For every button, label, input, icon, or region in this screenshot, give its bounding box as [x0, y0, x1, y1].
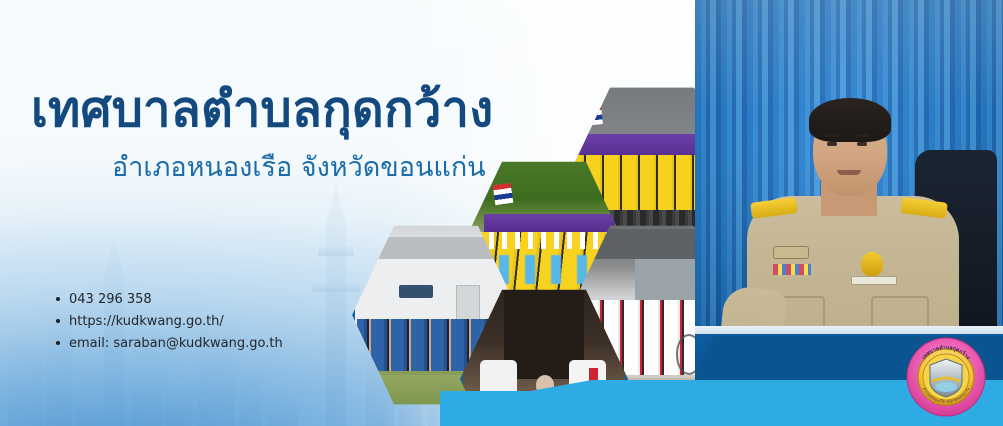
contact-item-email[interactable]: email: saraban@kudkwang.go.th	[56, 332, 283, 354]
contact-website-text[interactable]: https://kudkwang.go.th/	[69, 314, 224, 329]
page-title: เทศบาลตำบลกุดกว้าง	[31, 84, 493, 135]
desk-highlight	[695, 326, 1003, 334]
contact-email-text[interactable]: email: saraban@kudkwang.go.th	[69, 336, 283, 351]
contact-list: 043 296 358 https://kudkwang.go.th/ emai…	[56, 288, 283, 354]
municipality-hero-banner: เทศบาลตำบลกุดกว้าง อำเภอหนองเรือ จังหวัด…	[0, 0, 1003, 426]
bullet-dot-icon	[56, 341, 60, 345]
contact-phone-text: 043 296 358	[69, 292, 152, 307]
bullet-dot-icon	[56, 297, 60, 301]
municipal-seal[interactable]: เทศบาลตำบลกุดกว้าง อำเภอหนองเรือ จังหวัด…	[906, 337, 986, 417]
page-subtitle: อำเภอหนองเรือ จังหวัดขอนแก่น	[112, 152, 486, 183]
bullet-dot-icon	[56, 319, 60, 323]
contact-item-phone: 043 296 358	[56, 288, 283, 310]
contact-item-website[interactable]: https://kudkwang.go.th/	[56, 310, 283, 332]
